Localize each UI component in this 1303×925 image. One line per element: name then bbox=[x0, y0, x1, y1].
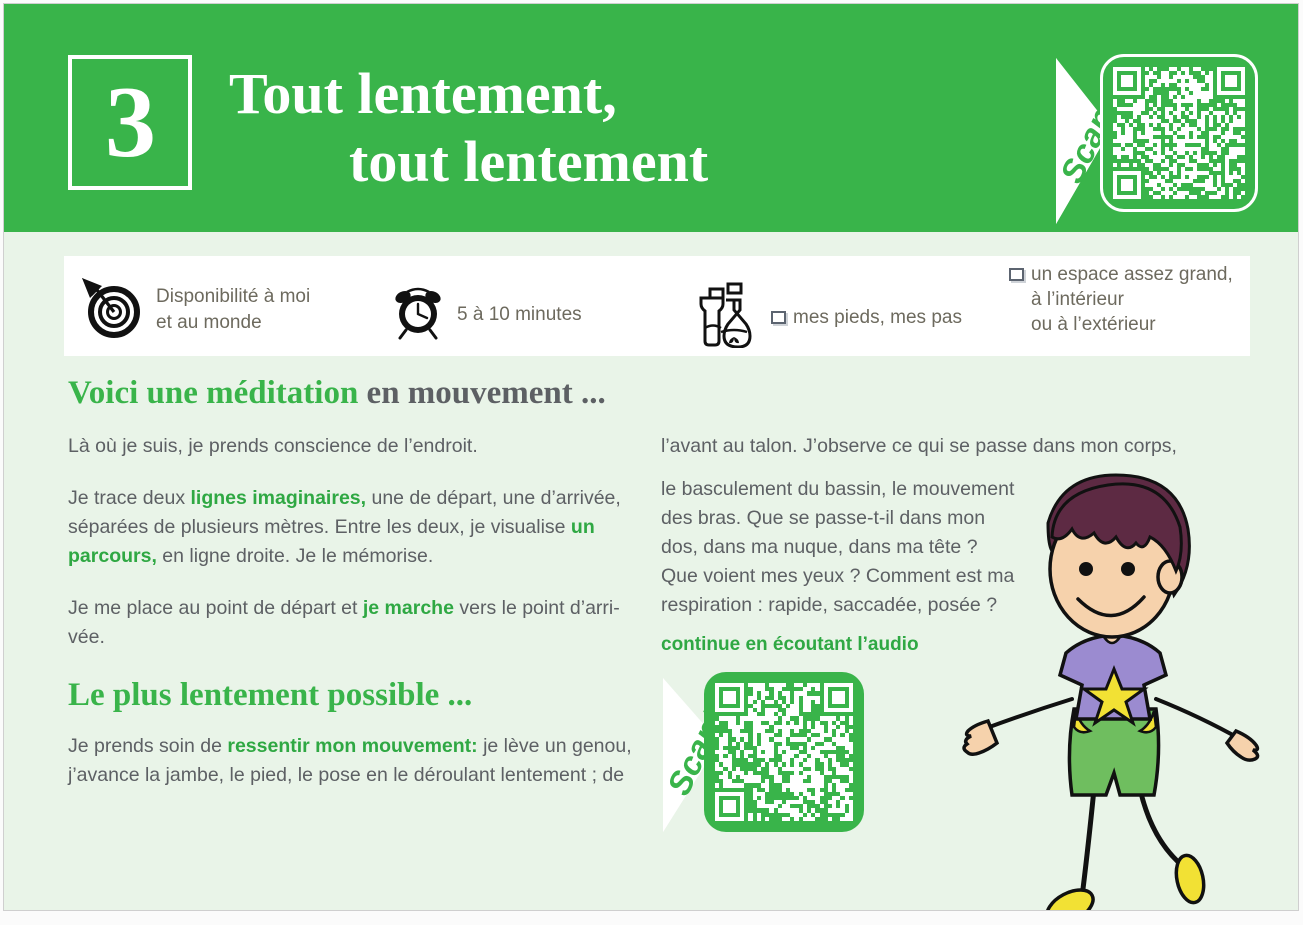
material-label: 5 à 10 minutes bbox=[457, 302, 582, 327]
checkbox-icon[interactable] bbox=[1009, 268, 1024, 281]
right-shoe bbox=[1172, 853, 1207, 905]
material-label: mes pieds, mes pas bbox=[771, 305, 962, 330]
walking-child-illustration bbox=[944, 459, 1284, 911]
left-text-column: Là où je suis, je prends conscience de l… bbox=[68, 432, 628, 675]
text-run: en ligne droite. Je le mémorise. bbox=[157, 545, 433, 567]
heading-gray-part: en mouvement ... bbox=[367, 375, 606, 411]
qr-matrix bbox=[1113, 67, 1245, 199]
qr-matrix bbox=[715, 683, 853, 821]
section-2-paragraph: Je prends soin de ressentir mon mouvemen… bbox=[68, 732, 638, 790]
left-arm bbox=[984, 699, 1072, 729]
title-line-2: tout lentement bbox=[229, 128, 1029, 196]
bottles-icon bbox=[699, 280, 761, 355]
checkbox-icon[interactable] bbox=[771, 311, 786, 324]
left-eye bbox=[1079, 562, 1093, 576]
right-eye bbox=[1121, 562, 1135, 576]
audio-qr-code[interactable] bbox=[704, 672, 864, 832]
target-icon bbox=[74, 274, 146, 345]
card-number: 3 bbox=[105, 72, 155, 174]
material-item-space: un espace assez grand, à l’intérieur ou … bbox=[1009, 262, 1233, 337]
paragraph-2: Je trace deux lignes imaginaires, une de… bbox=[68, 484, 628, 571]
alarm-clock-icon bbox=[389, 282, 447, 347]
right-hand bbox=[1227, 731, 1258, 760]
title-line-1: Tout lentement, bbox=[229, 61, 617, 126]
paragraph-1: Là où je suis, je prends conscience de l… bbox=[68, 432, 628, 461]
card-number-box: 3 bbox=[68, 55, 192, 190]
highlight-je-marche: je marche bbox=[363, 597, 454, 619]
highlight-lignes-imaginaires: lignes imaginaires, bbox=[190, 487, 366, 509]
right-arm bbox=[1156, 699, 1240, 739]
material-item-availability: Disponibilité à moi et au monde bbox=[74, 274, 310, 345]
page-root: 3 Tout lentement, tout lentement Scan! bbox=[0, 0, 1303, 925]
activity-card: 3 Tout lentement, tout lentement Scan! bbox=[3, 3, 1299, 911]
audio-link-label[interactable]: continue en écoutant l’audio bbox=[661, 634, 919, 656]
material-item-feet: mes pieds, mes pas bbox=[699, 280, 962, 355]
material-line-2: et au monde bbox=[156, 312, 262, 333]
text-run: Je prends soin de bbox=[68, 735, 227, 757]
page-title: Tout lentement, tout lentement bbox=[229, 60, 1029, 196]
material-label: un espace assez grand, à l’intérieur ou … bbox=[1009, 262, 1233, 337]
text-run: Je trace deux bbox=[68, 487, 190, 509]
paragraph-3: Je me place au point de départ et je mar… bbox=[68, 594, 628, 652]
material-item-duration: 5 à 10 minutes bbox=[389, 282, 582, 347]
material-line-2: à l’intérieur bbox=[1009, 289, 1124, 310]
heading-green-part: Voici une méditation bbox=[68, 375, 358, 411]
right-leg bbox=[1140, 789, 1184, 867]
material-line-3: ou à l’extérieur bbox=[1009, 314, 1156, 335]
material-line-1: un espace assez grand, bbox=[1031, 264, 1233, 285]
material-line-1: mes pieds, mes pas bbox=[793, 307, 962, 328]
section-heading-2: Le plus lentement possible ... bbox=[68, 677, 472, 714]
right-paragraph-1: l’avant au talon. J’observe ce qui se pa… bbox=[661, 432, 1181, 461]
text-run: Je me place au point de départ et bbox=[68, 597, 363, 619]
section-heading-1: Voici une méditation en mouvement ... bbox=[68, 375, 606, 412]
shorts bbox=[1069, 709, 1158, 795]
highlight-ressentir-mon-mouvement: ressentir mon mouvement: bbox=[227, 735, 477, 757]
left-leg bbox=[1082, 789, 1094, 897]
material-label: Disponibilité à moi et au monde bbox=[156, 284, 310, 334]
header-qr-code[interactable] bbox=[1100, 54, 1258, 212]
card-header: 3 Tout lentement, tout lentement Scan! bbox=[4, 4, 1298, 232]
materials-strip: Disponibilité à moi et au monde bbox=[64, 256, 1250, 356]
left-shoe bbox=[1041, 883, 1098, 911]
material-line-1: Disponibilité à moi bbox=[156, 286, 310, 307]
